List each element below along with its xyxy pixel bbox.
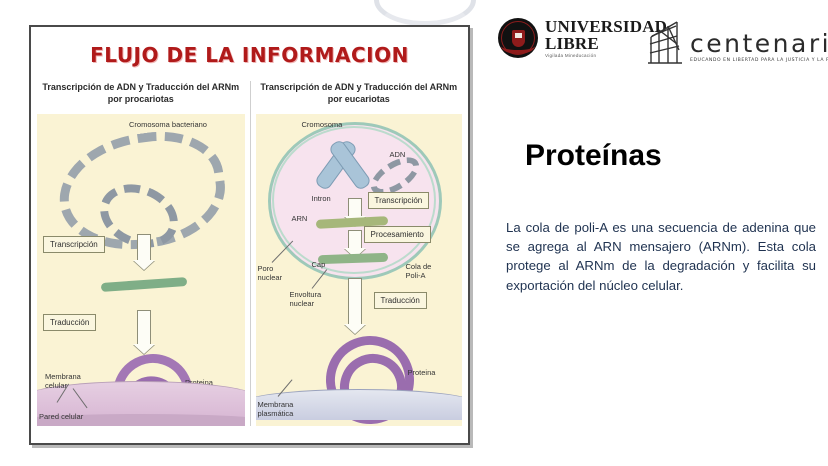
label-cap: Cap [312,260,326,269]
label-arn: ARN [292,214,308,223]
centenario-word: centenario [690,31,828,56]
label-intron: Intron [312,194,331,203]
arrow-traduccion [137,310,151,346]
column-eukaryote: Transcripción de ADN y Traducción del AR… [250,81,463,426]
arrow-procesamiento [348,230,362,250]
centenario-logo: centenario EDUCANDO EN LIBERTAD PARA LA … [646,20,828,64]
figure-columns: Transcripción de ADN y Traducción del AR… [31,81,468,426]
column-prokaryote: Transcripción de ADN y Traducción del AR… [37,81,250,426]
logo-bar: UNIVERSIDAD LIBRE Vigilada Mineducación [498,18,814,70]
box-transcripcion-euk: Transcripción [368,192,430,209]
slide-canvas: FLUJO DE LA INFORMACION Transcripción de… [0,0,828,466]
arrow-transcripcion [137,234,151,262]
label-adn: ADN [390,150,406,159]
label-poro-nuclear: Poro nuclear [258,264,292,283]
page-title: Proteínas [525,139,662,173]
centenario-tagline: EDUCANDO EN LIBERTAD PARA LA JUSTICIA Y … [690,59,828,64]
body-paragraph: La cola de poli-A es una secuencia de ad… [506,218,816,295]
label-membrana-plasmatica: Membrana plasmática [258,400,306,419]
university-seal-icon [498,18,538,58]
decorative-oval [374,0,476,26]
box-traduccion: Traducción [43,314,96,331]
label-proteina-euk: Proteina [408,368,436,377]
label-pared-celular: Pared celular [39,412,83,421]
figure-frame: FLUJO DE LA INFORMACION Transcripción de… [29,25,470,445]
universidad-libre-logo: UNIVERSIDAD LIBRE Vigilada Mineducación [498,18,667,59]
centenario-wordmark: centenario EDUCANDO EN LIBERTAD PARA LA … [690,31,828,64]
label-cola-poli-a: Cola de Poli-A [406,262,446,281]
figure-title: FLUJO DE LA INFORMACION [31,43,468,67]
box-transcripcion: Transcripción [43,236,105,253]
prokaryote-panel: Cromosoma bacteriano Transcripción Tradu… [37,114,245,426]
box-procesamiento: Procesamiento [364,226,431,243]
eukaryote-panel: Cromosoma ADN Intron ARN Transcripción P… [256,114,463,426]
tower-icon [646,20,686,64]
label-cromosoma-bacteriano: Cromosoma bacteriano [129,120,207,129]
arrow-transcripcion-euk [348,198,362,218]
box-traduccion-euk: Traducción [374,292,427,309]
label-envoltura-nuclear: Envoltura nuclear [290,290,336,309]
label-cromosoma: Cromosoma [302,120,343,129]
arrow-traduccion-euk [348,278,362,326]
column-prokaryote-subtitle: Transcripción de ADN y Traducción del AR… [37,81,245,111]
seal-ribbon-icon [501,38,535,54]
column-eukaryote-subtitle: Transcripción de ADN y Traducción del AR… [256,81,463,111]
